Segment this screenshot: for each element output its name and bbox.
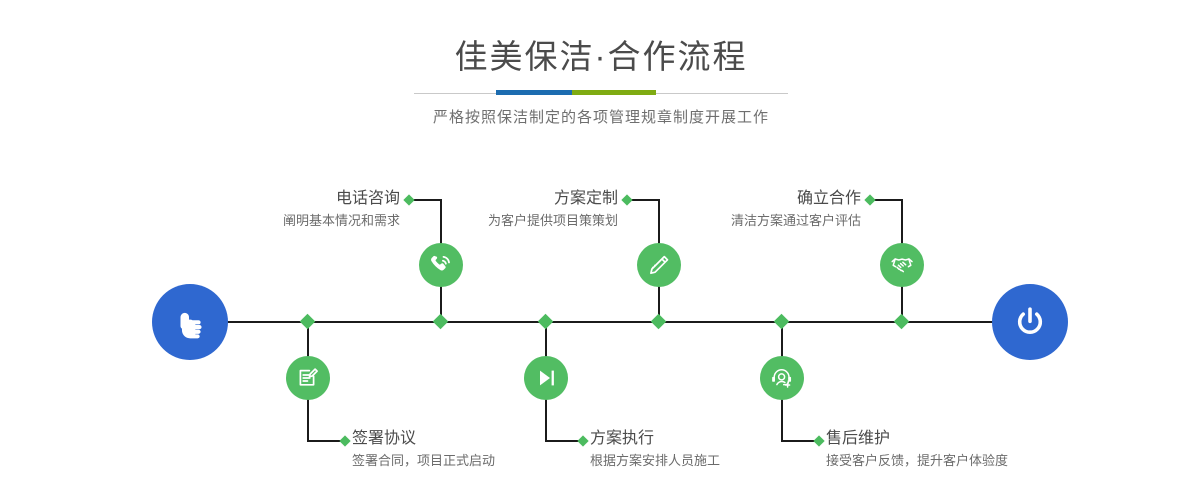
- step-desc-3: 为客户提供项目策策划: [368, 211, 618, 231]
- step-node-1[interactable]: [419, 243, 463, 287]
- step-node-4[interactable]: [524, 356, 568, 400]
- process-flow-infographic: 佳美保洁·合作流程 严格按照保洁制定的各项管理规章制度开展工作: [0, 0, 1202, 502]
- pencil-icon: [646, 252, 672, 278]
- step-label-3: 方案定制 为客户提供项目策策划: [368, 188, 618, 231]
- connector-horizontal-step-5: [872, 199, 903, 201]
- connector-horizontal-step-2: [307, 440, 343, 442]
- flow-end-node[interactable]: [992, 284, 1068, 360]
- phone-call-icon: [428, 252, 454, 278]
- step-label-4: 方案执行 根据方案安排人员施工: [590, 428, 840, 471]
- axis-marker-step-6: [774, 314, 790, 330]
- divider-segment-blue: [496, 90, 572, 95]
- step-title-5: 确立合作: [611, 188, 861, 210]
- step-node-2[interactable]: [286, 356, 330, 400]
- step-desc-2: 签署合同，项目正式启动: [352, 451, 602, 471]
- power-icon: [1009, 301, 1051, 343]
- axis-marker-step-2: [300, 314, 316, 330]
- step-desc-1: 阐明基本情况和需求: [150, 211, 400, 231]
- title-divider: [414, 89, 788, 99]
- label-marker-step-5: [864, 194, 875, 205]
- step-title-1: 电话咨询: [150, 188, 400, 210]
- page-title: 佳美保洁·合作流程: [0, 36, 1202, 78]
- step-label-5: 确立合作 清洁方案通过客户评估: [611, 188, 861, 231]
- step-title-2: 签署协议: [352, 428, 602, 450]
- page-subtitle: 严格按照保洁制定的各项管理规章制度开展工作: [0, 108, 1202, 128]
- document-edit-icon: [295, 365, 321, 391]
- axis-marker-step-3: [651, 314, 667, 330]
- step-desc-4: 根据方案安排人员施工: [590, 451, 840, 471]
- step-node-5[interactable]: [880, 243, 924, 287]
- headset-support-icon: [769, 365, 795, 391]
- label-marker-step-2: [339, 435, 350, 446]
- step-title-4: 方案执行: [590, 428, 840, 450]
- step-label-1: 电话咨询 阐明基本情况和需求: [150, 188, 400, 231]
- handshake-icon: [889, 252, 915, 278]
- play-skip-icon: [533, 365, 559, 391]
- step-desc-5: 清洁方案通过客户评估: [611, 211, 861, 231]
- step-label-2: 签署协议 签署合同，项目正式启动: [352, 428, 602, 471]
- flow-start-node[interactable]: [152, 284, 228, 360]
- step-title-6: 售后维护: [826, 428, 1106, 450]
- axis-marker-step-4: [538, 314, 554, 330]
- step-node-3[interactable]: [637, 243, 681, 287]
- axis-marker-step-5: [894, 314, 910, 330]
- header: 佳美保洁·合作流程 严格按照保洁制定的各项管理规章制度开展工作: [0, 0, 1202, 128]
- step-node-6[interactable]: [760, 356, 804, 400]
- step-label-6: 售后维护 接受客户反馈，提升客户体验度: [826, 428, 1106, 471]
- pointing-hand-icon: [169, 301, 211, 343]
- divider-segment-green: [572, 90, 656, 95]
- axis-marker-step-1: [433, 314, 449, 330]
- step-desc-6: 接受客户反馈，提升客户体验度: [826, 451, 1106, 471]
